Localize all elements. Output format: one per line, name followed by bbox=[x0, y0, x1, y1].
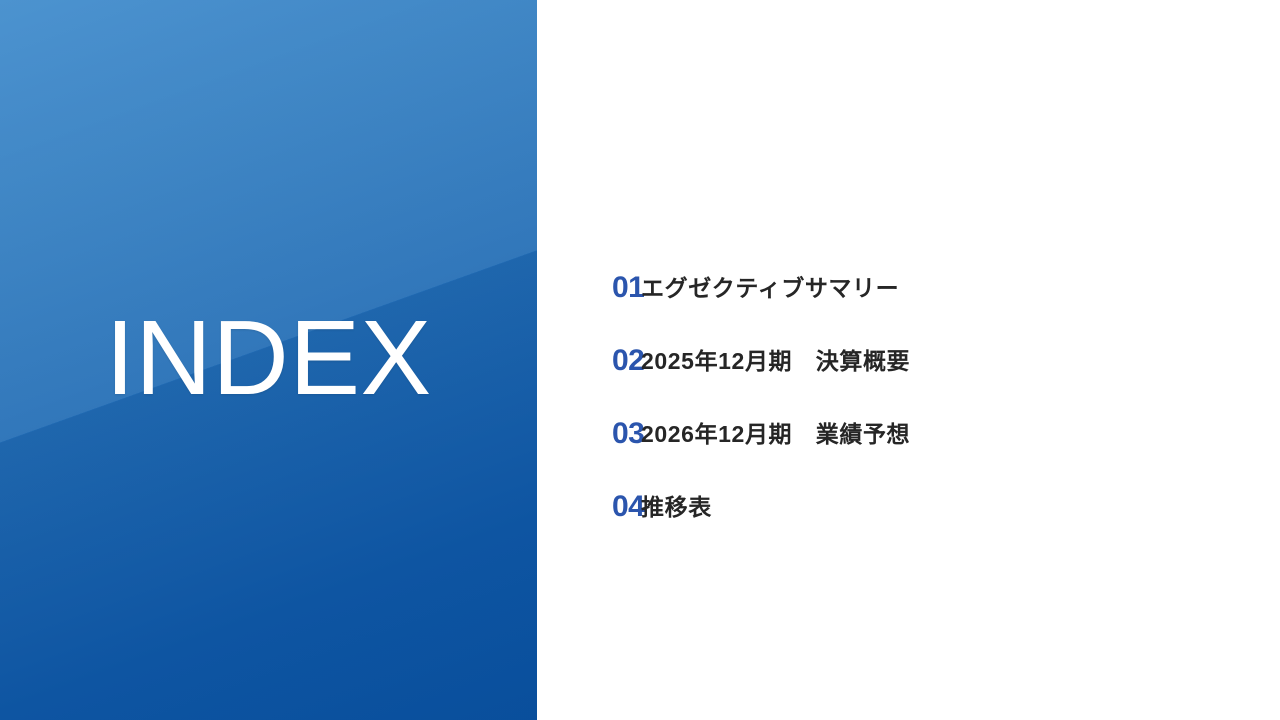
index-item-01[interactable]: 01 エグゼクティブサマリー bbox=[537, 268, 899, 308]
page-title: INDEX bbox=[0, 291, 537, 425]
index-item-label: 推移表 bbox=[641, 487, 712, 527]
index-item-number: 03 bbox=[537, 414, 641, 454]
index-item-04[interactable]: 04 推移表 bbox=[537, 487, 712, 527]
title-panel: INDEX bbox=[0, 0, 537, 720]
index-item-number: 04 bbox=[537, 487, 641, 527]
index-list: 01 エグゼクティブサマリー 02 2025年12月期 決算概要 03 2026… bbox=[537, 0, 1280, 720]
index-item-number: 01 bbox=[537, 268, 641, 308]
index-item-label: エグゼクティブサマリー bbox=[641, 268, 899, 308]
index-item-02[interactable]: 02 2025年12月期 決算概要 bbox=[537, 341, 910, 381]
index-item-03[interactable]: 03 2026年12月期 業績予想 bbox=[537, 414, 910, 454]
index-item-number: 02 bbox=[537, 341, 641, 381]
index-slide: INDEX 01 エグゼクティブサマリー 02 2025年12月期 決算概要 0… bbox=[0, 0, 1280, 720]
index-item-label: 2025年12月期 決算概要 bbox=[641, 341, 910, 381]
index-item-label: 2026年12月期 業績予想 bbox=[641, 414, 910, 454]
